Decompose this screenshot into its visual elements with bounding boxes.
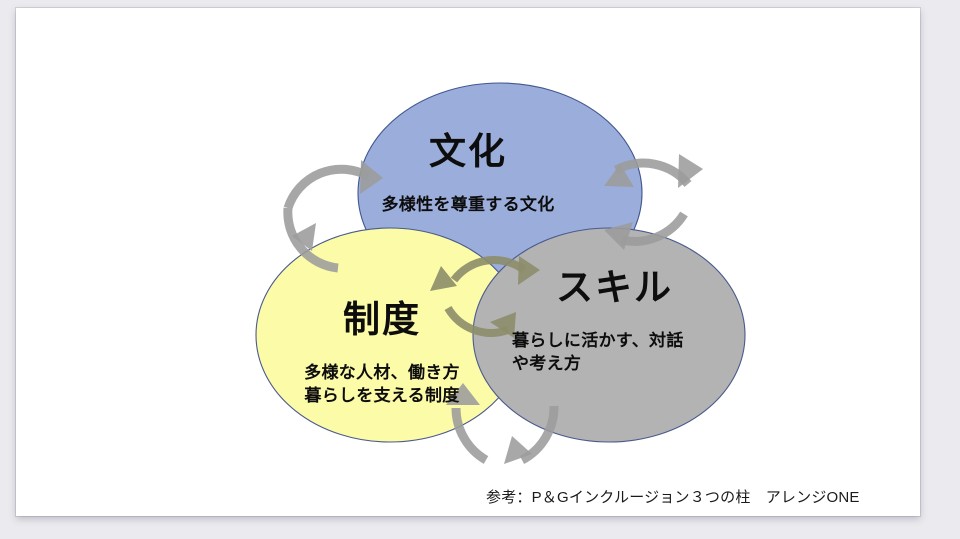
slide-canvas: 文化 多様性を尊重する文化 制度 多様な人材、働き方 暮らしを支える制度 スキル… — [16, 8, 920, 516]
screenshot-stage: 文化 多様性を尊重する文化 制度 多様な人材、働き方 暮らしを支える制度 スキル… — [0, 0, 960, 539]
skill-label: スキル 暮らしに活かす、対話 や考え方 — [490, 248, 790, 394]
system-subtext: 多様な人材、働き方 暮らしを支える制度 — [238, 362, 526, 407]
skill-subtext: 暮らしに活かす、対話 や考え方 — [490, 330, 790, 375]
culture-heading: 文化 — [280, 130, 656, 174]
skill-heading: スキル — [490, 266, 790, 310]
system-label: 制度 多様な人材、働き方 暮らしを支える制度 — [238, 280, 526, 426]
culture-subtext: 多様性を尊重する文化 — [280, 194, 656, 216]
system-heading: 制度 — [238, 298, 526, 342]
source-footnote: 参考：P＆Gインクルージョン３つの柱 アレンジONE — [486, 486, 906, 507]
culture-label: 文化 多様性を尊重する文化 — [280, 112, 656, 235]
